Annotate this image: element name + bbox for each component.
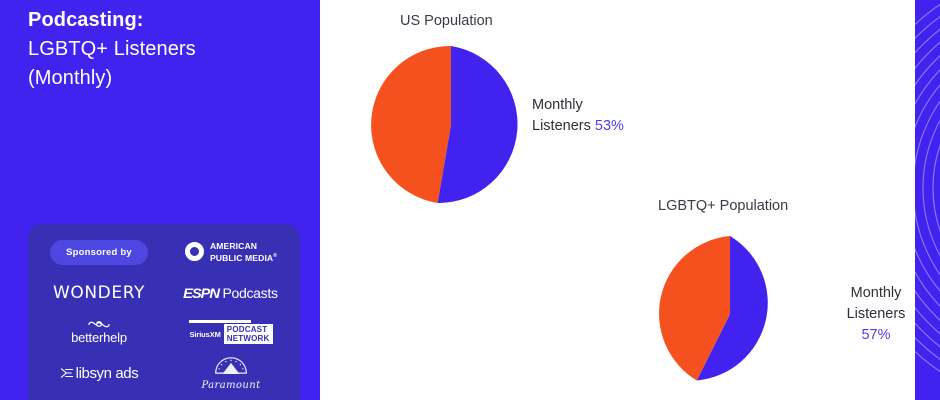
libsyn-icon	[60, 367, 74, 379]
siriusxm-lockup: SiriusXM PODCAST NETWORK	[189, 320, 272, 344]
sponsor-logo-espn-podcasts[interactable]: ESPN Podcasts	[168, 274, 294, 312]
us-population-pie-title: US Population	[400, 13, 493, 29]
libsyn-lockup: libsyn ads	[60, 365, 139, 382]
arc-pattern-icon	[915, 0, 940, 400]
paramount-lockup: Paramount	[202, 356, 261, 391]
sponsor-logo-paramount[interactable]: Paramount	[168, 352, 294, 394]
sponsor-logo-betterhelp[interactable]: betterhelp	[38, 312, 160, 352]
siriusxm-wordmark: SiriusXM	[189, 324, 221, 344]
left-title-panel: Podcasting: LGBTQ+ Listeners (Monthly) S…	[0, 0, 320, 400]
sponsor-logo-wondery[interactable]: WONDERY	[38, 274, 160, 312]
pie-slice-other[interactable]	[371, 46, 451, 203]
lgbtq-label-line-1: Monthly	[851, 285, 902, 301]
wondery-wordmark: WONDERY	[53, 283, 145, 303]
betterhelp-wordmark: betterhelp	[71, 330, 127, 345]
lgbtq-label-line-2: Listeners	[847, 306, 906, 322]
lgbtq-population-pie-title: LGBTQ+ Population	[658, 198, 788, 214]
podcast-network-line-1: PODCAST	[227, 325, 268, 334]
sponsor-card: Sponsored by AMERICAN PUBLIC MEDIA® WOND…	[28, 224, 300, 400]
apm-line-1: AMERICAN	[210, 241, 257, 251]
lgbtq-population-pie-label: Monthly Listeners 57%	[822, 283, 930, 346]
apm-lockup: AMERICAN PUBLIC MEDIA®	[185, 241, 277, 263]
sponsor-logo-american-public-media[interactable]: AMERICAN PUBLIC MEDIA®	[168, 232, 294, 272]
sponsored-by-pill: Sponsored by	[50, 240, 148, 265]
page-title: Podcasting: LGBTQ+ Listeners (Monthly)	[28, 6, 308, 93]
sponsor-logo-libsyn-ads[interactable]: libsyn ads	[38, 352, 160, 394]
title-line-2: LGBTQ+ Listeners	[28, 35, 308, 64]
betterhelp-lockup: betterhelp	[71, 320, 127, 345]
title-line-3: (Monthly)	[28, 64, 308, 93]
sponsor-logo-grid: Sponsored by AMERICAN PUBLIC MEDIA® WOND…	[28, 224, 300, 400]
slide-canvas: Podcasting: LGBTQ+ Listeners (Monthly) S…	[0, 0, 940, 400]
us-label-value: 53%	[595, 118, 624, 134]
infinity-icon	[87, 320, 111, 329]
ring-icon	[185, 242, 204, 261]
title-line-1: Podcasting:	[28, 6, 308, 35]
sponsored-by-pill-cell: Sponsored by	[38, 232, 160, 272]
espn-lockup: ESPN Podcasts	[184, 285, 277, 301]
espn-podcasts-word: Podcasts	[222, 285, 277, 301]
lgbtq-population-pie[interactable]	[650, 234, 810, 400]
podcast-network-badge: PODCAST NETWORK	[224, 324, 273, 344]
right-decorative-strip	[915, 0, 940, 400]
lgbtq-label-value: 57%	[861, 327, 890, 343]
espn-mark: ESPN	[183, 285, 219, 301]
podcast-network-line-2: NETWORK	[227, 334, 270, 343]
us-label-line-1: Monthly	[532, 97, 583, 113]
us-population-pie[interactable]	[371, 46, 531, 204]
mountain-icon	[214, 356, 248, 380]
siriusxm-row: SiriusXM PODCAST NETWORK	[189, 324, 272, 344]
apm-line-2: PUBLIC MEDIA	[210, 253, 273, 263]
chart-area: US Population Monthly Listeners 53% LGBT…	[320, 0, 915, 400]
sponsor-logo-siriusxm-podcast-network[interactable]: SiriusXM PODCAST NETWORK	[168, 312, 294, 352]
apm-wordmark: AMERICAN PUBLIC MEDIA®	[210, 241, 277, 263]
siriusxm-bar	[189, 320, 251, 323]
us-label-line-2: Listeners	[532, 118, 591, 134]
libsyn-wordmark: libsyn ads	[76, 365, 139, 382]
paramount-wordmark: Paramount	[202, 380, 261, 391]
us-population-pie-label: Monthly Listeners 53%	[532, 95, 662, 137]
